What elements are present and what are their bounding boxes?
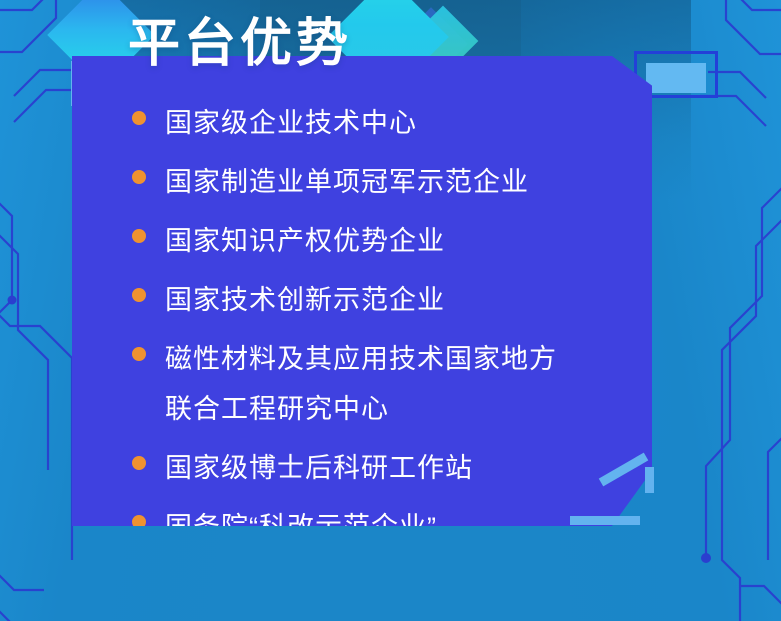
bullet-dot-icon — [132, 456, 146, 470]
list-item: 国家级博士后科研工作站 — [132, 443, 652, 493]
list-item-label: 国家制造业单项冠军示范企业 — [165, 157, 529, 207]
advantages-panel: 国家级企业技术中心 国家制造业单项冠军示范企业 国家知识产权优势企业 国家技术创… — [72, 56, 652, 526]
page-title: 平台优势 — [128, 8, 352, 80]
list-item-label: 磁性材料及其应用技术国家地方 联合工程研究中心 — [165, 334, 557, 434]
list-item-label: 国家知识产权优势企业 — [165, 216, 445, 266]
list-item: 国家技术创新示范企业 — [132, 275, 652, 325]
list-item: 国家知识产权优势企业 — [132, 216, 652, 266]
list-item-label: 国家级博士后科研工作站 — [165, 443, 473, 493]
list-item: 磁性材料及其应用技术国家地方 联合工程研究中心 — [132, 334, 652, 434]
list-item: 国家制造业单项冠军示范企业 — [132, 157, 652, 207]
panel-corner-accent-right — [645, 467, 654, 493]
bullet-dot-icon — [132, 288, 146, 302]
list-item-label: 国家级企业技术中心 — [165, 98, 417, 148]
decorative-fill-rect — [646, 63, 706, 93]
bullet-dot-icon — [132, 170, 146, 184]
list-item-label: 国家技术创新示范企业 — [165, 275, 445, 325]
bullet-dot-icon — [132, 347, 146, 361]
slide-canvas: 国家级企业技术中心 国家制造业单项冠军示范企业 国家知识产权优势企业 国家技术创… — [0, 0, 781, 621]
panel-corner-accent-bottom — [570, 516, 640, 525]
list-item: 国家级企业技术中心 — [132, 98, 652, 148]
bullet-dot-icon — [132, 111, 146, 125]
advantages-list: 国家级企业技术中心 国家制造业单项冠军示范企业 国家知识产权优势企业 国家技术创… — [72, 56, 652, 561]
bullet-dot-icon — [132, 229, 146, 243]
